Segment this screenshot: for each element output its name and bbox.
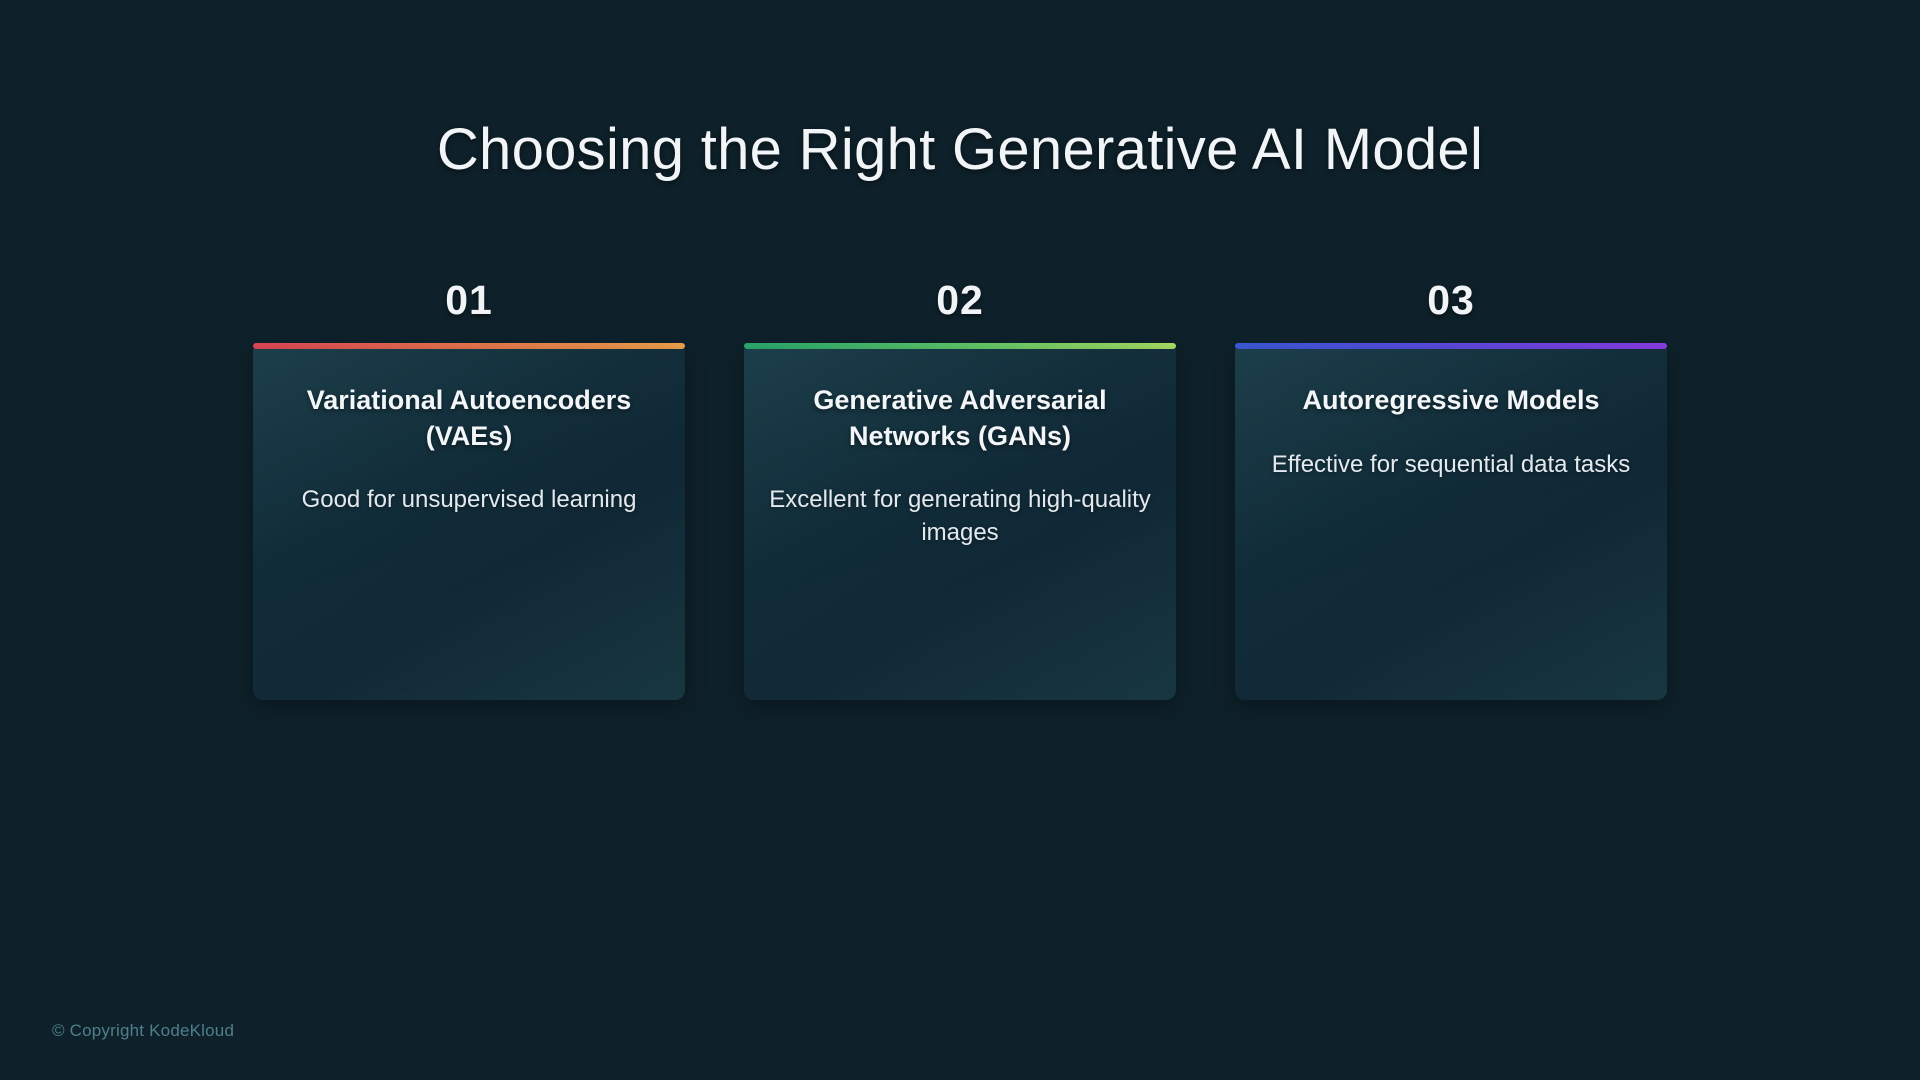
card-description-03: Effective for sequential data tasks — [1257, 449, 1645, 482]
slide-canvas: Choosing the Right Generative AI Model 0… — [0, 0, 1920, 1080]
card-number-01: 01 — [253, 280, 685, 321]
card-body-03: Autoregressive Models Effective for sequ… — [1235, 349, 1667, 700]
card-title-03: Autoregressive Models — [1257, 383, 1645, 419]
card-description-01: Good for unsupervised learning — [275, 484, 663, 517]
model-card-02[interactable]: 02 Generative Adversarial Networks (GANs… — [744, 280, 1176, 700]
card-body-02: Generative Adversarial Networks (GANs) E… — [744, 349, 1176, 700]
model-cards-row: 01 Variational Autoencoders (VAEs) Good … — [253, 280, 1667, 700]
card-number-02: 02 — [744, 280, 1176, 321]
card-description-02: Excellent for generating high-quality im… — [766, 484, 1154, 549]
card-number-03: 03 — [1235, 280, 1667, 321]
card-title-02: Generative Adversarial Networks (GANs) — [766, 383, 1154, 454]
page-title: Choosing the Right Generative AI Model — [0, 117, 1920, 184]
model-card-01[interactable]: 01 Variational Autoencoders (VAEs) Good … — [253, 280, 685, 700]
model-card-03[interactable]: 03 Autoregressive Models Effective for s… — [1235, 280, 1667, 700]
card-body-01: Variational Autoencoders (VAEs) Good for… — [253, 349, 685, 700]
footer-copyright: © Copyright KodeKloud — [52, 1021, 234, 1041]
card-title-01: Variational Autoencoders (VAEs) — [275, 383, 663, 454]
